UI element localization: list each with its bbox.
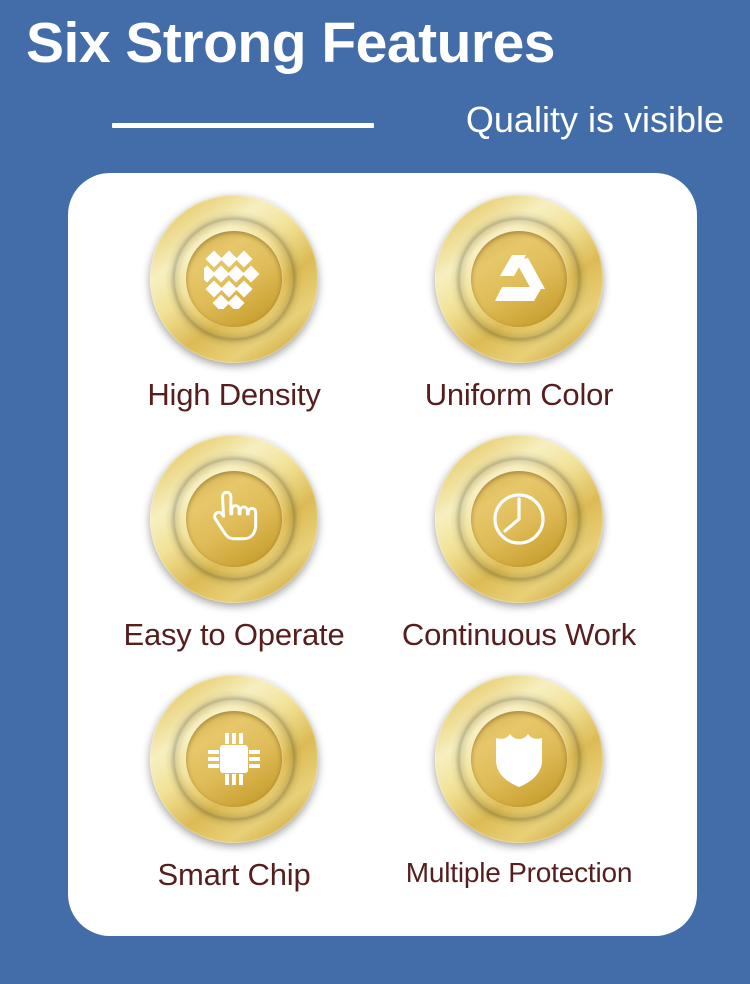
feature-label: Smart Chip: [84, 857, 384, 893]
feature-label: Continuous Work: [369, 617, 669, 653]
features-grid: High Density Uniform Color: [68, 173, 697, 936]
header-banner: Six Strong Features Quality is visible: [0, 0, 750, 173]
shield-icon: [488, 728, 550, 790]
title-divider-rule: [112, 123, 374, 128]
feature-item-continuous-work[interactable]: Continuous Work: [369, 435, 669, 653]
feature-item-high-density[interactable]: High Density: [84, 195, 384, 413]
pointing-hand-icon: [203, 488, 265, 550]
medallion-high-density: [150, 195, 318, 363]
page-title: Six Strong Features: [26, 14, 555, 74]
feature-label: Easy to Operate: [84, 617, 384, 653]
clock-icon: [488, 488, 550, 550]
triangle-drive-icon: [488, 248, 550, 310]
medallion-continuous-work: [435, 435, 603, 603]
medallion-multiple-protection: [435, 675, 603, 843]
feature-item-easy-to-operate[interactable]: Easy to Operate: [84, 435, 384, 653]
checkerboard-diamond-grid-icon: [203, 248, 265, 310]
medallion-easy-to-operate: [150, 435, 318, 603]
subtitle-row: Quality is visible: [0, 103, 750, 153]
medallion-smart-chip: [150, 675, 318, 843]
feature-item-multiple-protection[interactable]: Multiple Protection: [369, 675, 669, 889]
page-subtitle: Quality is visible: [466, 99, 724, 141]
feature-label: High Density: [84, 377, 384, 413]
medallion-uniform-color: [435, 195, 603, 363]
feature-label: Multiple Protection: [369, 857, 669, 889]
microchip-icon: [203, 728, 265, 790]
feature-label: Uniform Color: [369, 377, 669, 413]
features-card: High Density Uniform Color: [68, 173, 697, 936]
feature-item-uniform-color[interactable]: Uniform Color: [369, 195, 669, 413]
feature-item-smart-chip[interactable]: Smart Chip: [84, 675, 384, 893]
